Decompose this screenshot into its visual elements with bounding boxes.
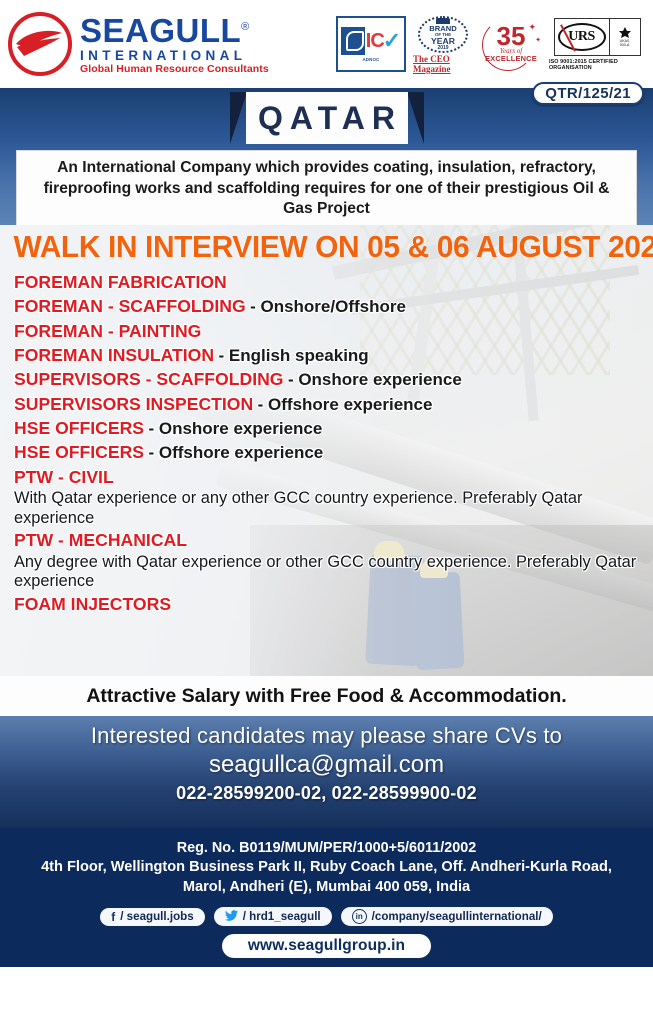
job-requirement: With Qatar experience or any other GCC c…	[14, 489, 653, 528]
job-title: FOAM INJECTORS	[14, 594, 171, 614]
ceo-magazine-label: The CEO Magazine	[413, 54, 473, 74]
job-positions-list: FOREMAN FABRICATION FOREMAN - SCAFFOLDIN…	[0, 267, 653, 616]
ukas-number: 003-A	[620, 43, 630, 47]
job-item: SUPERVISORS INSPECTION - Offshore experi…	[14, 393, 653, 416]
job-title: PTW - CIVIL	[14, 467, 114, 487]
urs-text: URS	[568, 29, 595, 45]
badge-35-years: ✦ ✦ 35 Years of EXCELLENCE	[480, 16, 542, 72]
social-link-twitter[interactable]: / hrd1_seagull	[214, 907, 332, 926]
logo-wordmark: SEAGULL®	[80, 14, 250, 47]
walk-in-interview-headline: WALK IN INTERVIEW ON 05 & 06 AUGUST 2021	[0, 225, 630, 267]
job-item: FOAM INJECTORS	[14, 593, 653, 616]
twitter-handle: / hrd1_seagull	[243, 910, 321, 923]
ukas-mark-icon: UKAS 003-A	[610, 19, 640, 55]
facebook-handle: / seagull.jobs	[120, 910, 193, 923]
linkedin-icon: in	[352, 909, 367, 924]
job-title: FOREMAN - SCAFFOLDING	[14, 296, 246, 316]
job-item: FOREMAN INSULATION - English speaking	[14, 344, 653, 367]
job-title: FOREMAN - PAINTING	[14, 321, 201, 341]
job-item: HSE OFFICERS - Onshore experience	[14, 417, 653, 440]
job-title: SUPERVISORS - SCAFFOLDING	[14, 369, 283, 389]
salary-banner: Attractive Salary with Free Food & Accom…	[0, 676, 653, 716]
job-item: FOREMAN - PAINTING	[14, 320, 653, 343]
address-line-1: 4th Floor, Wellington Business Park II, …	[14, 858, 639, 878]
checkmark-icon: ✓	[383, 30, 401, 52]
social-links: f / seagull.jobs / hrd1_seagull in /comp…	[0, 902, 653, 930]
logo-subtitle: INTERNATIONAL	[80, 49, 269, 63]
badge-adnoc-icv: IC ✓ ADNOC	[336, 16, 406, 72]
arc-decoration-icon	[482, 19, 534, 71]
star-icon: ✦	[528, 22, 536, 33]
badge-urs-iso: URS UKAS 003-A ISO 9001:2015 CERTIFIED O…	[549, 18, 645, 71]
address-section: Reg. No. B0119/MUM/PER/1000+5/6011/2002 …	[0, 828, 653, 902]
job-detail: - Onshore/Offshore	[250, 297, 406, 316]
social-link-facebook[interactable]: f / seagull.jobs	[100, 908, 204, 926]
contact-section: Interested candidates may please share C…	[0, 716, 653, 828]
poster-header: SEAGULL® INTERNATIONAL Global Human Reso…	[0, 0, 653, 88]
job-item: FOREMAN FABRICATION	[14, 271, 653, 294]
recruitment-poster: SEAGULL® INTERNATIONAL Global Human Reso…	[0, 0, 653, 1024]
star-icon: ✦	[535, 36, 541, 44]
job-detail: - Onshore experience	[148, 419, 322, 438]
job-detail: - Offshore experience	[258, 395, 433, 414]
website-footer: www.seagullgroup.in	[0, 930, 653, 967]
jobs-section: WALK IN INTERVIEW ON 05 & 06 AUGUST 2021…	[0, 225, 653, 676]
job-title: HSE OFFICERS	[14, 442, 144, 462]
job-title: FOREMAN FABRICATION	[14, 272, 227, 292]
reference-code-badge: QTR/125/21	[532, 82, 644, 105]
job-requirement: Any degree with Qatar experience or othe…	[14, 553, 653, 592]
laurel-wreath-icon: BRAND OF THE YEAR 2019	[418, 16, 468, 53]
job-title: SUPERVISORS INSPECTION	[14, 394, 253, 414]
iso-caption: ISO 9001:2015 CERTIFIED ORGANISATION	[549, 59, 645, 71]
ribbon-right-fold-icon	[407, 92, 424, 144]
job-detail: - Onshore experience	[288, 370, 462, 389]
adnoc-logo-icon	[341, 27, 365, 55]
country-banner-section: QATAR An International Company which pro…	[0, 88, 653, 225]
urs-mark-icon: URS	[555, 19, 610, 55]
job-item: PTW - MECHANICAL Any degree with Qatar e…	[14, 529, 653, 592]
icv-text: IC	[366, 31, 384, 51]
job-item: HSE OFFICERS - Offshore experience	[14, 441, 653, 464]
job-item: FOREMAN - SCAFFOLDING - Onshore/Offshore	[14, 295, 653, 318]
salary-note: Attractive Salary with Free Food & Accom…	[86, 685, 566, 708]
twitter-icon	[225, 909, 238, 924]
job-item: PTW - CIVIL With Qatar experience or any…	[14, 466, 653, 529]
registration-number: Reg. No. B0119/MUM/PER/1000+5/6011/2002	[14, 838, 639, 858]
job-detail: - Offshore experience	[148, 443, 323, 462]
company-logo: SEAGULL® INTERNATIONAL Global Human Reso…	[8, 12, 269, 76]
logo-tagline: Global Human Resource Consultants	[80, 64, 269, 75]
job-detail: - English speaking	[219, 346, 369, 365]
address-line-2: Marol, Andheri (E), Mumbai 400 059, Indi…	[14, 878, 639, 898]
job-title: PTW - MECHANICAL	[14, 530, 187, 550]
website-url[interactable]: www.seagullgroup.in	[222, 934, 431, 958]
brand-year: 2019	[437, 46, 448, 51]
company-description-box: An International Company which provides …	[16, 150, 637, 230]
certification-badges: IC ✓ ADNOC BRAND OF THE YEAR 2019 The CE…	[336, 16, 647, 72]
job-title: FOREMAN INSULATION	[14, 345, 214, 365]
country-ribbon: QATAR	[228, 92, 426, 144]
seagull-bird-icon	[8, 12, 72, 76]
adnoc-caption: ADNOC	[362, 57, 379, 62]
linkedin-handle: /company/seagullinternational/	[372, 910, 542, 923]
company-description: An International Company which provides …	[27, 158, 626, 220]
cv-call-to-action: Interested candidates may please share C…	[0, 723, 653, 749]
job-item: SUPERVISORS - SCAFFOLDING - Onshore expe…	[14, 368, 653, 391]
job-title: HSE OFFICERS	[14, 418, 144, 438]
facebook-icon: f	[111, 910, 115, 924]
contact-phones[interactable]: 022-28599200-02, 022-28599900-02	[0, 783, 653, 804]
social-link-linkedin[interactable]: in /company/seagullinternational/	[341, 907, 553, 926]
badge-brand-of-the-year: BRAND OF THE YEAR 2019 The CEO Magazine	[413, 16, 473, 72]
country-name: QATAR	[251, 100, 402, 137]
ribbon-left-fold-icon	[230, 92, 247, 144]
contact-email[interactable]: seagullca@gmail.com	[0, 751, 653, 779]
logo-name: SEAGULL	[80, 12, 241, 49]
registered-mark-icon: ®	[241, 21, 250, 33]
